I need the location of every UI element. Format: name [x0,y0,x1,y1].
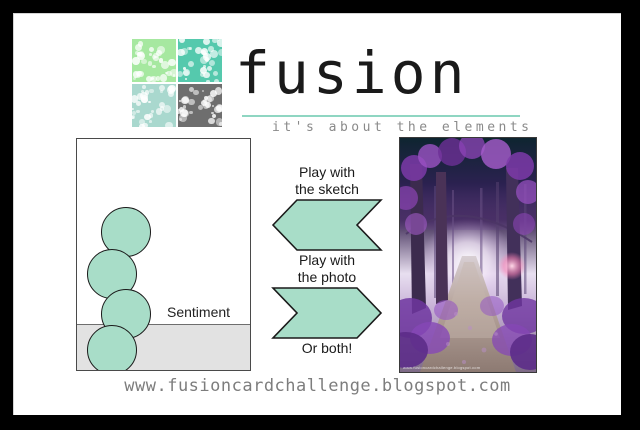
logo-block: fusion it's about the elements [132,36,512,148]
logo-wordmark: fusion [235,36,469,110]
logo-tile-teal [178,39,222,82]
sketch-card: Sentiment [76,138,251,371]
caption-play-with-sketch-line1: Play with [262,164,392,181]
caption-play-with-sketch-line2: the sketch [262,181,392,198]
left-arrow-banner-icon [271,198,383,252]
poster-frame: fusion it's about the elements Sentiment… [0,0,640,430]
dot-pattern-aqua [132,84,176,127]
right-arrow-banner-icon [271,286,383,340]
caption-play-with-photo-line2: the photo [262,269,392,286]
footer-url: www.fusioncardchallenge.blogspot.com [14,376,621,396]
dot-pattern-teal [178,39,222,82]
caption-or-both: Or both! [262,340,392,357]
logo-tile-green [132,39,176,82]
caption-play-with-photo-line1: Play with [262,252,392,269]
sketch-circle-4 [87,325,137,371]
logo-tagline: it's about the elements [272,120,533,135]
dot-pattern-gray [178,84,222,127]
dot-pattern-green [132,39,176,82]
banner-left-wrap [271,198,383,252]
logo-tile-grid [132,39,222,127]
inspiration-photo: www.fusioncardchallenge.blogspot.com [399,137,537,373]
forest-path-image [400,138,536,372]
logo-tile-gray [178,84,222,127]
arrow-column: Play with the sketch Play with the photo… [262,164,392,374]
photo-watermark: www.fusioncardchallenge.blogspot.com [403,365,480,370]
logo-divider-rule [242,115,520,117]
sentiment-label: Sentiment [167,304,230,320]
poster-canvas: fusion it's about the elements Sentiment… [13,13,621,415]
banner-right-wrap [271,286,383,340]
logo-tile-aqua [132,84,176,127]
